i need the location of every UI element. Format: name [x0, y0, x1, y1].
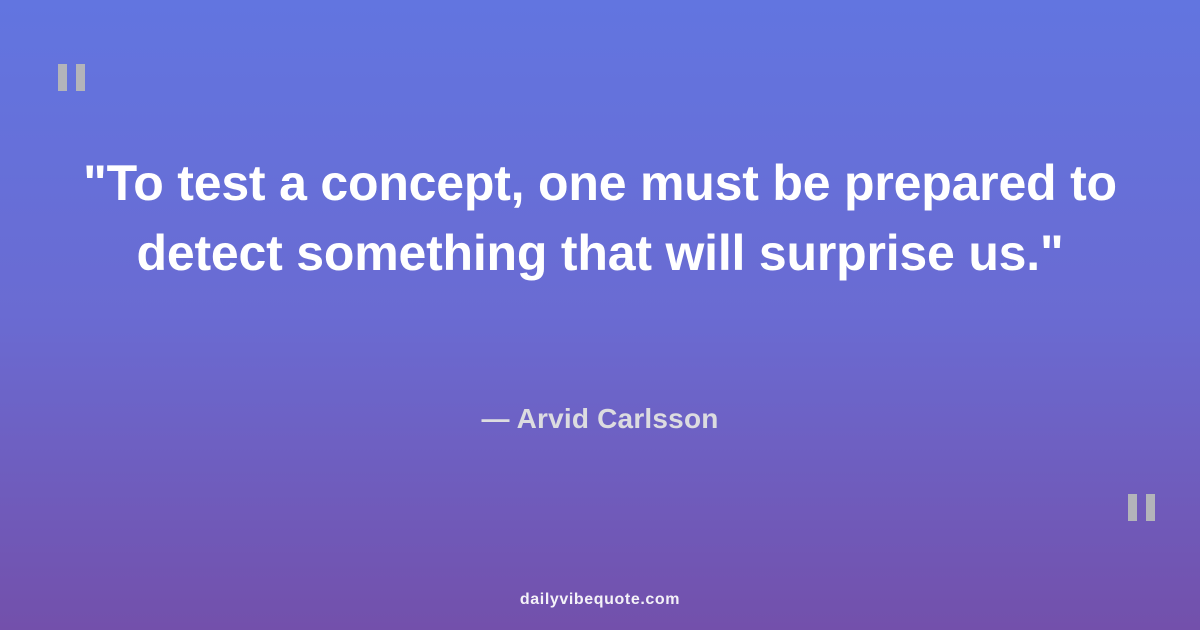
site-watermark: dailyvibequote.com	[0, 591, 1200, 609]
quote-bars-icon-top	[58, 64, 85, 91]
quote-card: "To test a concept, one must be prepared…	[0, 0, 1200, 630]
quote-text: "To test a concept, one must be prepared…	[26, 148, 1174, 288]
quote-attribution: — Arvid Carlsson	[0, 400, 1200, 438]
quote-bar-right	[76, 64, 85, 91]
quote-bars-icon-bottom	[1128, 494, 1155, 521]
quote-bar-left	[58, 64, 67, 91]
quote-body: "To test a concept, one must be prepared…	[0, 148, 1200, 288]
quote-bar-left	[1128, 494, 1137, 521]
quote-bar-right	[1146, 494, 1155, 521]
